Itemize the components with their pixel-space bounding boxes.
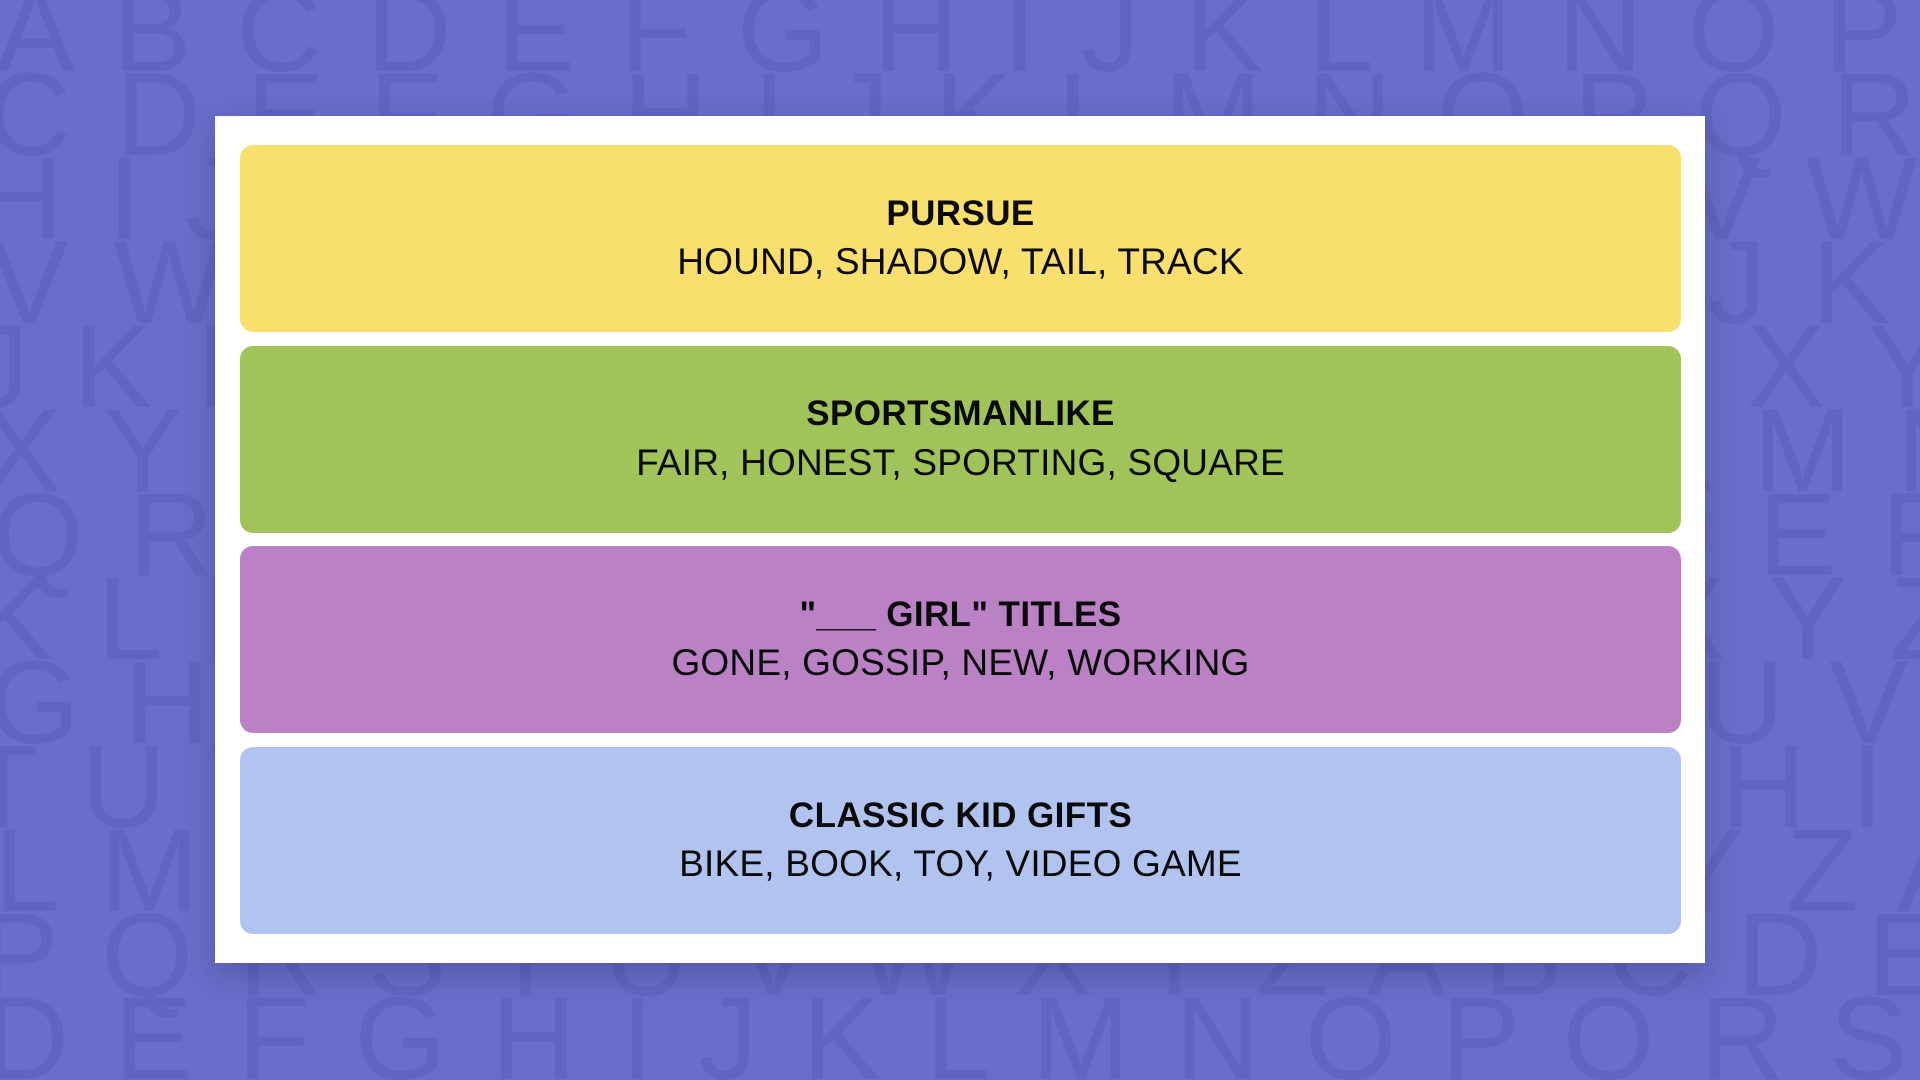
- group-members-blue: BIKE, BOOK, TOY, VIDEO GAME: [655, 843, 1266, 886]
- answer-group-yellow: PURSUE HOUND, SHADOW, TAIL, TRACK: [240, 145, 1681, 332]
- answer-group-green: SPORTSMANLIKE FAIR, HONEST, SPORTING, SQ…: [240, 346, 1681, 533]
- group-title-yellow: PURSUE: [862, 194, 1058, 234]
- group-title-purple: "___ GIRL" TITLES: [776, 595, 1146, 635]
- group-members-green: FAIR, HONEST, SPORTING, SQUARE: [612, 442, 1309, 485]
- connections-answers-panel: PURSUE HOUND, SHADOW, TAIL, TRACK SPORTS…: [215, 116, 1705, 963]
- background-letter-row: A B C D E F G H I J K L M N O P Q R S T …: [0, 0, 1920, 90]
- group-members-purple: GONE, GOSSIP, NEW, WORKING: [647, 642, 1273, 685]
- background-letter-row: D E F G H I J K L M N O P Q R S T U V W …: [0, 980, 1920, 1080]
- answer-group-blue: CLASSIC KID GIFTS BIKE, BOOK, TOY, VIDEO…: [240, 747, 1681, 934]
- group-title-blue: CLASSIC KID GIFTS: [765, 796, 1156, 836]
- background-letter-row: W X Y Z A B C D E F G H I J K L M N O P …: [0, 1064, 1920, 1080]
- answer-group-purple: "___ GIRL" TITLES GONE, GOSSIP, NEW, WOR…: [240, 546, 1681, 733]
- group-title-green: SPORTSMANLIKE: [782, 394, 1139, 434]
- group-members-yellow: HOUND, SHADOW, TAIL, TRACK: [653, 241, 1267, 284]
